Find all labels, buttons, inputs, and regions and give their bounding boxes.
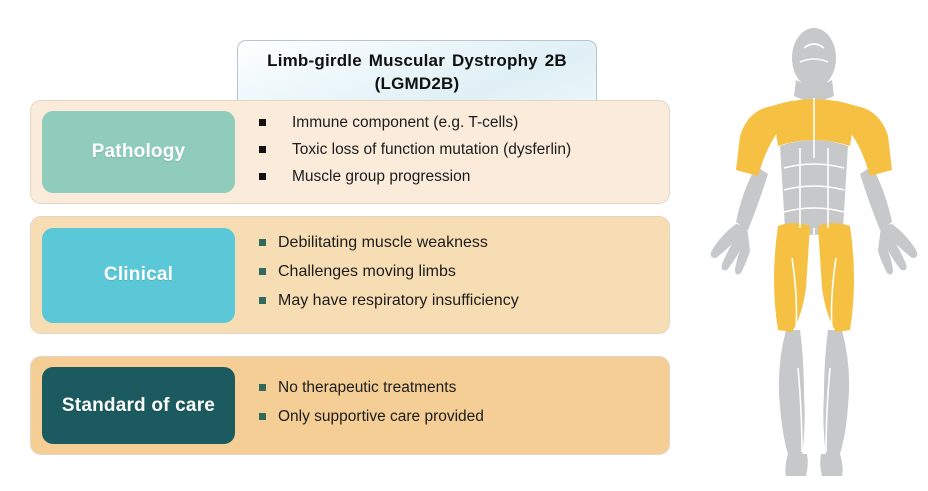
list-item: Challenges moving limbs (259, 263, 657, 281)
bullet-list-clinical: Debilitating muscle weakness Challenges … (235, 230, 669, 321)
list-item: Immune component (e.g. T-cells) (259, 114, 657, 132)
page-title: Limb-girdle Muscular Dystrophy 2B (LGMD2… (267, 50, 567, 95)
list-item: Debilitating muscle weakness (259, 234, 657, 252)
bullet-text: Challenges moving limbs (278, 263, 456, 281)
bullet-list-pathology: Immune component (e.g. T-cells) Toxic lo… (235, 110, 669, 195)
square-bullet-icon (259, 119, 266, 126)
square-bullet-icon (259, 384, 266, 391)
page-title-line2: (LGMD2B) (375, 74, 460, 93)
disease-title-box: Limb-girdle Muscular Dystrophy 2B (LGMD2… (237, 40, 597, 102)
list-item: May have respiratory insufficiency (259, 292, 657, 310)
list-item: Only supportive care provided (259, 408, 657, 426)
square-bullet-icon (259, 268, 266, 275)
lgmd2b-infographic: Limb-girdle Muscular Dystrophy 2B (LGMD2… (0, 0, 928, 491)
section-panel-pathology: Pathology Immune component (e.g. T-cells… (30, 100, 670, 204)
bullet-text: Immune component (e.g. T-cells) (292, 114, 518, 132)
anterior-muscle-anatomy-figure (700, 18, 928, 480)
square-bullet-icon (259, 173, 266, 180)
square-bullet-icon (259, 297, 266, 304)
bullet-text: Muscle group progression (292, 168, 470, 186)
bullet-text: Toxic loss of function mutation (dysferl… (292, 141, 571, 159)
section-label-pathology: Pathology (42, 111, 235, 193)
list-item: Muscle group progression (259, 168, 657, 186)
page-title-line1: Limb-girdle Muscular Dystrophy 2B (267, 51, 567, 70)
section-panel-standard-of-care: Standard of care No therapeutic treatmen… (30, 356, 670, 455)
square-bullet-icon (259, 146, 266, 153)
list-item: Toxic loss of function mutation (dysferl… (259, 141, 657, 159)
section-label-standard-of-care: Standard of care (42, 367, 235, 444)
square-bullet-icon (259, 239, 266, 246)
bullet-text: Only supportive care provided (278, 408, 484, 426)
square-bullet-icon (259, 413, 266, 420)
bullet-text: No therapeutic treatments (278, 379, 456, 397)
bullet-list-standard-of-care: No therapeutic treatments Only supportiv… (235, 375, 669, 437)
section-label-clinical: Clinical (42, 228, 235, 323)
section-panel-clinical: Clinical Debilitating muscle weakness Ch… (30, 216, 670, 334)
list-item: No therapeutic treatments (259, 379, 657, 397)
bullet-text: May have respiratory insufficiency (278, 292, 519, 310)
bullet-text: Debilitating muscle weakness (278, 234, 488, 252)
